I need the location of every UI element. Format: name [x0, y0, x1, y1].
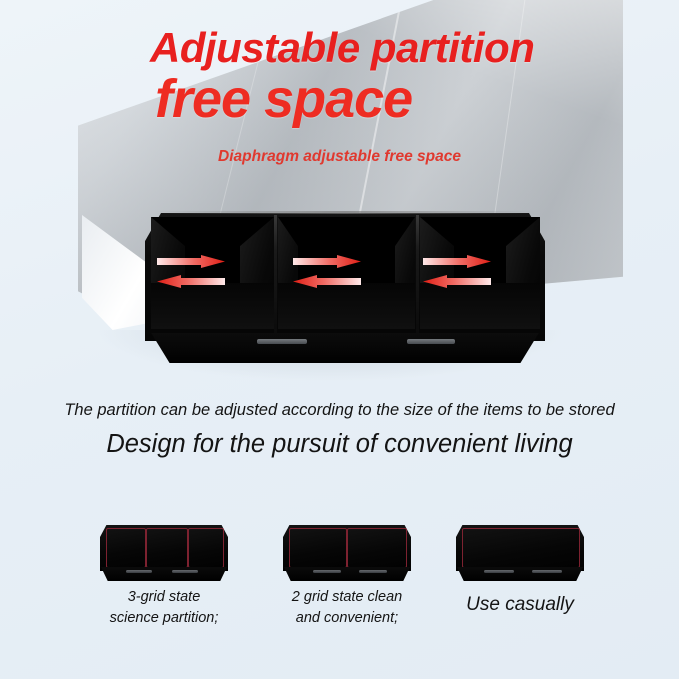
thumb-compartment [289, 528, 347, 568]
base-strip-left [257, 339, 307, 344]
thumb-base-strip [359, 570, 387, 573]
thumb-base [453, 567, 587, 581]
headline-line-2: free space [155, 68, 412, 130]
product-top-edge [155, 211, 535, 214]
thumb-compartment [188, 528, 224, 568]
arrows-left [157, 255, 225, 289]
thumbnail-row: 3-grid state science partition; 2 grid s… [0, 525, 679, 655]
product-base [141, 333, 549, 363]
thumb-caption-line-1: 2 grid state clean [292, 589, 402, 605]
product-infographic: Adjustable partition free space Diaphrag… [0, 0, 679, 679]
thumb-caption-line-2: science partition; [110, 610, 219, 626]
thumb-base-strip [172, 570, 198, 573]
thumb-base-strip [484, 570, 514, 573]
thumb-caption: Use casually [436, 591, 604, 619]
middle-caption-line-2: Design for the pursuit of convenient liv… [0, 430, 679, 459]
slide-left-arrow [423, 275, 491, 288]
slide-right-arrow [423, 255, 491, 268]
product-divider-1 [274, 215, 277, 333]
thumb-caption-line-1: Use casually [466, 594, 574, 615]
slide-right-arrow [157, 255, 225, 268]
thumb-base [280, 567, 414, 581]
slide-left-arrow [293, 275, 361, 288]
thumb-caption: 2 grid state clean and convenient; [263, 587, 431, 629]
thumb-base [97, 567, 231, 581]
arrows-right [423, 255, 491, 289]
slide-left-arrow [157, 275, 225, 288]
thumb-compartment [462, 528, 580, 568]
thumb-caption: 3-grid state science partition; [80, 587, 248, 629]
thumb-caption-line-1: 3-grid state [128, 589, 201, 605]
slide-right-arrow [293, 255, 361, 268]
thumb-compartment [146, 528, 188, 568]
hero-section: Adjustable partition free space Diaphrag… [0, 0, 679, 390]
base-strip-right [407, 339, 455, 344]
thumb-base-strip [313, 570, 341, 573]
arrows-center [293, 255, 361, 289]
thumb-caption-line-2: and convenient; [296, 610, 398, 626]
thumb-compartment [347, 528, 407, 568]
thumb-base-strip [532, 570, 562, 573]
hero-subline: Diaphragm adjustable free space [0, 148, 679, 166]
thumb-base-strip [126, 570, 152, 573]
thumb-compartment [106, 528, 146, 568]
headline-line-1: Adjustable partition [150, 24, 534, 72]
product-divider-2 [416, 215, 419, 333]
middle-caption-line-1: The partition can be adjusted according … [0, 401, 679, 420]
main-product-image [145, 213, 545, 365]
